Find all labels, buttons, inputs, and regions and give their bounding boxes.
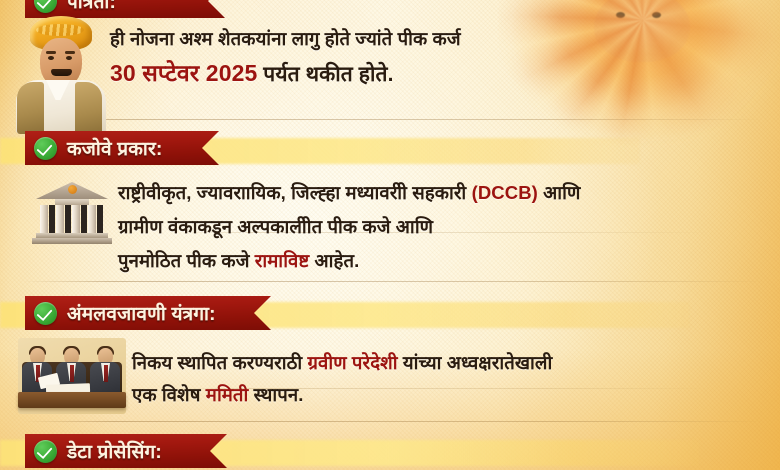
check-circle-icon: [34, 302, 57, 325]
bank-column-gap: [49, 205, 55, 233]
bank-base-lower: [32, 238, 112, 244]
farmer-eyebrow-right: [65, 51, 75, 54]
bank-column: [56, 205, 64, 233]
deity-eye-left: [616, 12, 625, 18]
section-divider-3: [24, 421, 764, 422]
farmer-eyebrow-left: [46, 51, 56, 54]
farmer-vest-left: [17, 82, 44, 134]
bank-pediment-medallion-icon: [68, 185, 77, 194]
check-circle-icon: [34, 440, 57, 463]
farmer-eye-left: [48, 56, 54, 60]
section-2-line-1: राष्ट्रीवीकृत, ज्यावराायिक, जिल्ह्हा मध्…: [118, 178, 580, 208]
section-2-line-3: पुनमोठित पीक कजे रामाविष्ट आहेत.: [118, 246, 359, 276]
saffron-deity-watermark-illustration: [498, 0, 780, 147]
section-banner-label: अंमलवजावणी यंत्रगा:: [67, 300, 216, 326]
section-banner-label: डेटा प्रोसेसिंग:: [67, 438, 162, 464]
person-tie: [104, 365, 108, 382]
bank-column: [40, 205, 48, 233]
bank-column-gap: [65, 205, 71, 233]
section-divider-1: [24, 119, 764, 120]
bank-column: [72, 205, 80, 233]
bank-column: [88, 205, 96, 233]
bank-building-icon: [34, 178, 110, 244]
person-tie: [70, 365, 74, 382]
section-2-line-2: ग्रामीण वंकाकडून अल्पकालीीत पीक कजे आणि: [118, 212, 433, 242]
committee-meeting-illustration: [18, 338, 126, 414]
section-banner-label: पात्रता:: [67, 0, 116, 14]
section-3-line-1: निकय स्थापित करण्यराठी ग्रवीण परेदेशी या…: [132, 348, 552, 378]
farmer-eye-right: [66, 56, 72, 60]
committee-person: [90, 348, 120, 392]
farmer-moustache: [51, 69, 72, 76]
check-circle-icon: [34, 0, 57, 13]
section-banner-kajove-prakar[interactable]: कजोवे प्रकार:: [25, 131, 219, 165]
section-3-line-2: एक विशेष ममिती स्थापन.: [132, 380, 303, 410]
section-1-line-1: ही नोजना अश्म शेतकयांना लागु होते ज्यांत…: [110, 24, 461, 54]
deity-face: [594, 0, 690, 62]
section-banner-amalbajavani-yantrana[interactable]: अंमलवजावणी यंत्रगा:: [25, 296, 271, 330]
section-divider-2: [24, 281, 764, 282]
bank-columns: [40, 205, 104, 233]
section-banner-label: कजोवे प्रकार:: [67, 135, 162, 161]
section-1-line-2: 30 सप्टेवर 2025 पर्यत थकीत होते.: [110, 58, 394, 90]
check-circle-icon: [34, 137, 57, 160]
committee-desk: [18, 392, 126, 408]
farmer-with-turban-illustration: [12, 14, 108, 132]
deity-eye-right: [652, 12, 661, 18]
bank-column-gap: [97, 205, 103, 233]
section-banner-data-processing[interactable]: डेटा प्रोसेसिंग:: [25, 434, 227, 468]
bank-column-gap: [81, 205, 87, 233]
farmer-vest-right: [75, 82, 102, 134]
